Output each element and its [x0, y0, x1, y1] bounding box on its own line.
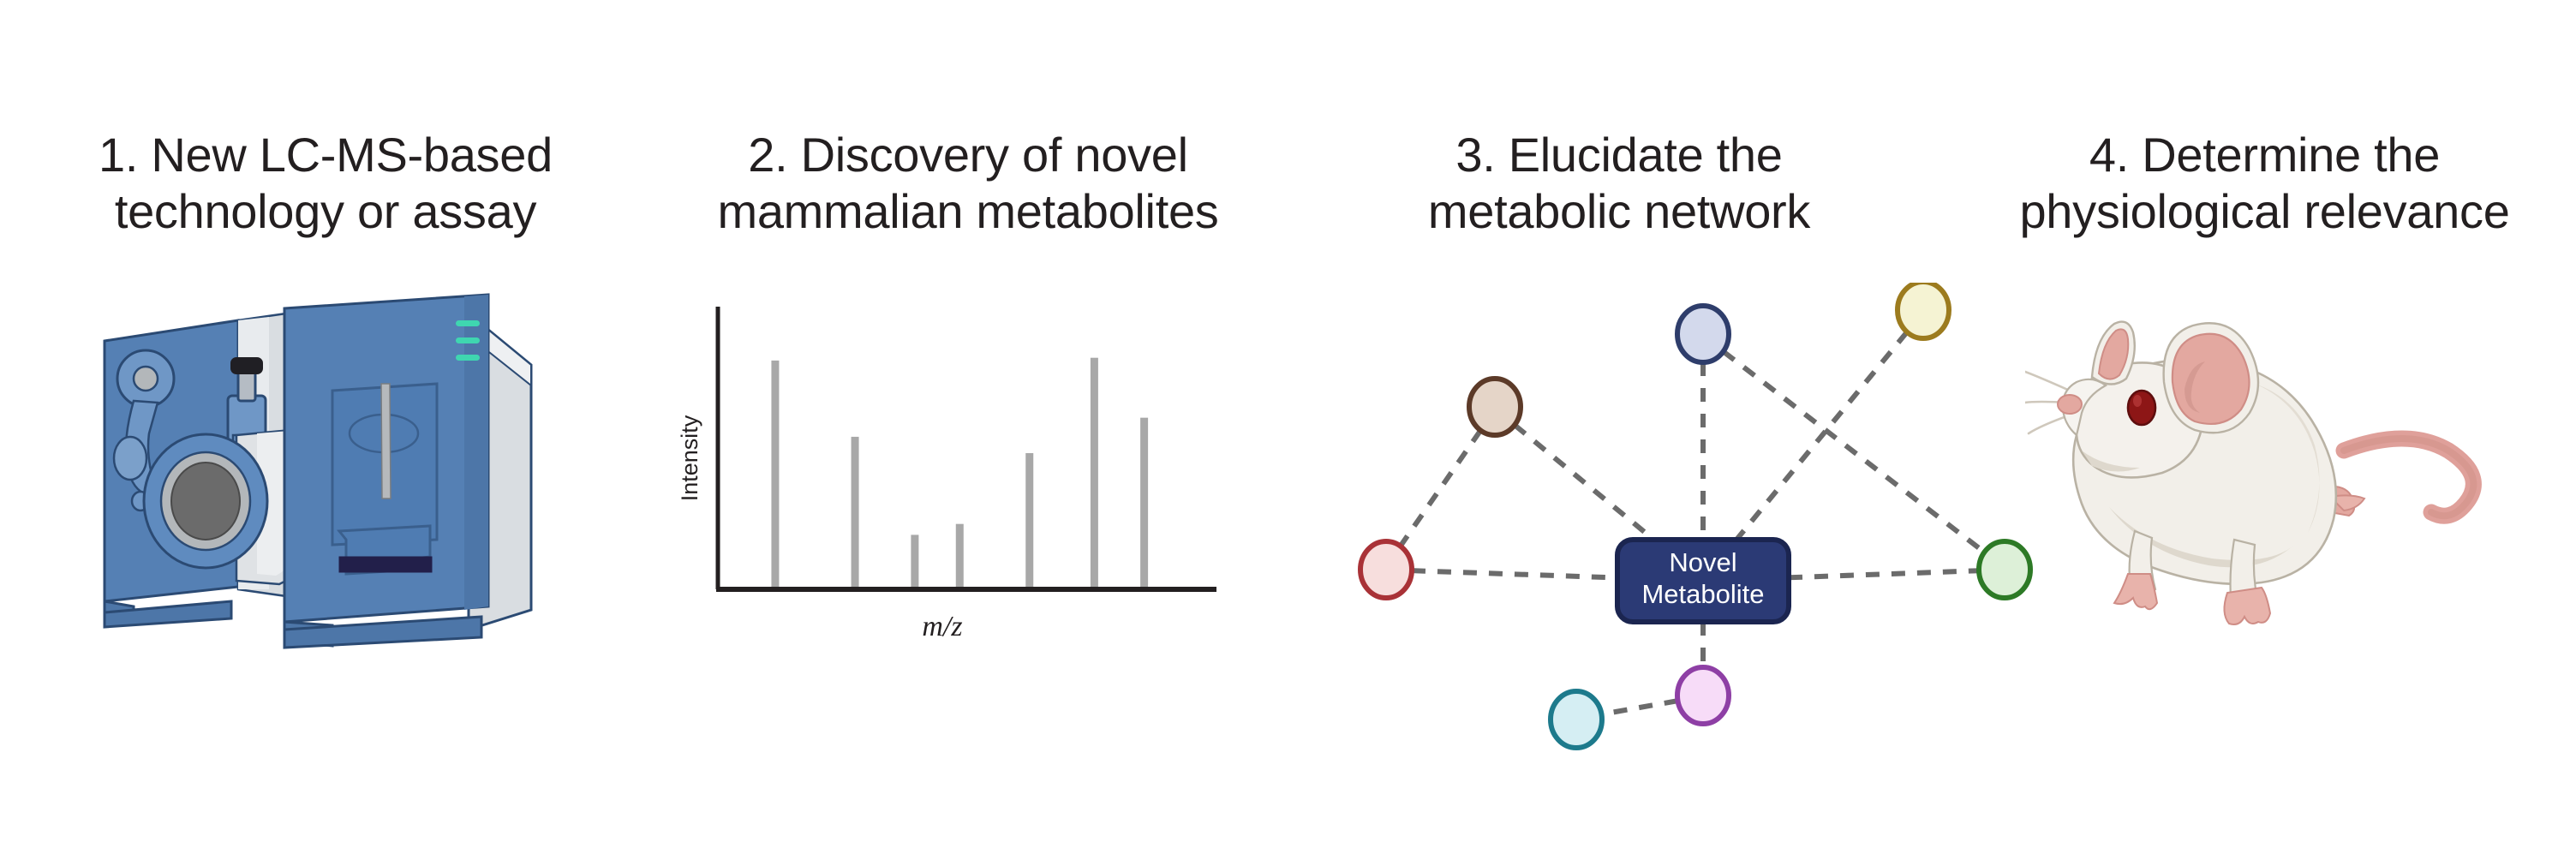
panel-1-title-line-1: 1. New LC-MS-based — [0, 127, 651, 183]
panel-3-title: 3. Elucidate the metabolic network — [1285, 127, 1953, 239]
network-edge — [1401, 430, 1481, 546]
spectrum-peak — [911, 534, 918, 589]
node-blue[interactable] — [1677, 306, 1729, 362]
panel-3-title-line-2: metabolic network — [1285, 183, 1953, 240]
spectrum-x-axis-label: m/z — [922, 611, 962, 642]
panel-step-4: 4. Determine the physiological relevance — [1953, 0, 2576, 854]
network-nodes — [1360, 283, 2030, 748]
network-edge — [1515, 425, 1654, 540]
metabolic-network-diagram: Novel Metabolite — [1285, 283, 2056, 762]
panel-1-title-line-2: technology or assay — [0, 183, 651, 240]
figure-root: 1. New LC-MS-based technology or assay — [0, 0, 2576, 854]
network-edge — [1736, 332, 1907, 540]
novel-metabolite-label-line-2: Metabolite — [1641, 579, 1764, 609]
panel-4-title: 4. Determine the physiological relevance — [1953, 127, 2576, 239]
spectrum-peak — [956, 524, 964, 589]
network-edge — [1601, 701, 1677, 714]
network-center-node[interactable]: Novel Metabolite — [1617, 540, 1789, 622]
spectrum-bars — [771, 358, 1148, 589]
panel-2-artwork: Intensity m/z — [651, 283, 1285, 762]
panel-3-artwork: Novel Metabolite — [1285, 283, 1953, 762]
panel-2-title-line-1: 2. Discovery of novel — [651, 127, 1285, 183]
status-led-1 — [456, 320, 480, 326]
panel-step-1: 1. New LC-MS-based technology or assay — [0, 0, 651, 854]
panel-4-title-line-2: physiological relevance — [1953, 183, 2576, 240]
panel-4-artwork — [1953, 283, 2576, 762]
panel-1-artwork — [0, 283, 651, 762]
mass-spectrum-chart: Intensity m/z — [668, 283, 1268, 677]
panel-step-2: 2. Discovery of novel mammalian metaboli… — [651, 0, 1285, 854]
status-led-2 — [456, 337, 480, 343]
node-brown[interactable] — [1469, 379, 1521, 435]
laboratory-mouse-icon — [2025, 283, 2505, 685]
novel-metabolite-label-line-1: Novel — [1669, 547, 1736, 577]
network-edge — [1412, 570, 1617, 577]
panel-step-3: 3. Elucidate the metabolic network Novel… — [1285, 0, 1953, 854]
panel-4-title-line-1: 4. Determine the — [1953, 127, 2576, 183]
spectrum-peak — [771, 361, 779, 589]
spectrum-y-axis-label: Intensity — [677, 415, 702, 501]
network-edge — [1789, 570, 1979, 577]
node-red[interactable] — [1360, 541, 1412, 598]
spectrum-peak — [1025, 453, 1033, 589]
spectrum-peak — [1091, 358, 1098, 589]
node-yellow[interactable] — [1898, 283, 1949, 338]
status-led-3 — [456, 355, 480, 361]
panel-2-title: 2. Discovery of novel mammalian metaboli… — [651, 127, 1285, 239]
spectrum-peak — [852, 437, 859, 589]
lc-ms-instrument-icon — [86, 283, 565, 685]
panel-3-title-line-1: 3. Elucidate the — [1285, 127, 1953, 183]
panel-1-title: 1. New LC-MS-based technology or assay — [0, 127, 651, 239]
panel-2-title-line-2: mammalian metabolites — [651, 183, 1285, 240]
node-cyan[interactable] — [1551, 691, 1602, 748]
node-magenta[interactable] — [1677, 667, 1729, 724]
spectrum-peak — [1140, 418, 1148, 589]
network-edge — [1724, 351, 1985, 552]
